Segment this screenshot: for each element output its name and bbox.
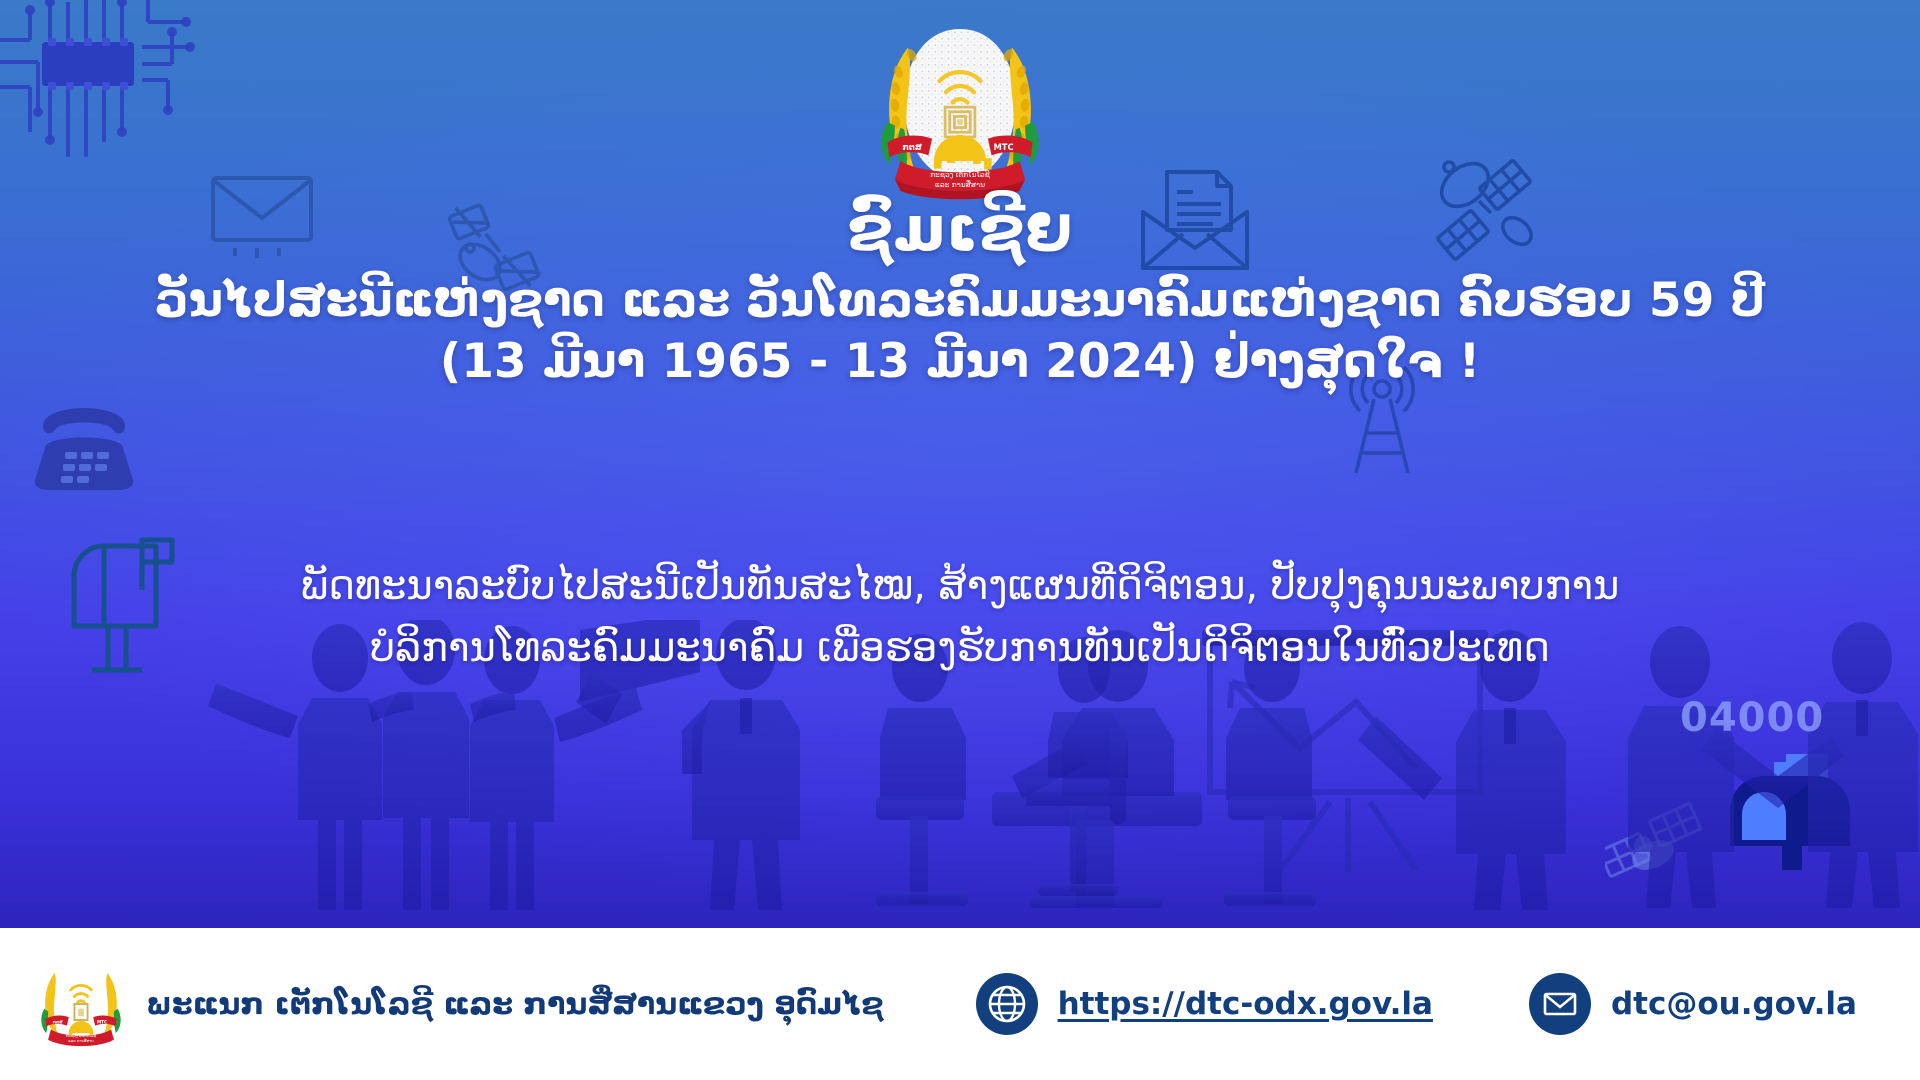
national-emblem: ກຕສ MTC ກະຊວງ ເຕັກໂນໂລຊີ ແລະ ການສື່ສານ (867, 16, 1053, 202)
website-url[interactable]: https://dtc-odx.gov.la (1058, 986, 1433, 1022)
email-address[interactable]: dtc@ou.gov.la (1611, 986, 1857, 1022)
headline-kicker: ຊົມເຊີຍ (0, 196, 1920, 262)
svg-text:ແລະ ການສື່ສານ: ແລະ ການສື່ສານ (68, 1038, 94, 1043)
headline-line-1: ວັນໄປສະນີແຫ່ງຊາດ ແລະ ວັນໂທລະຄົມມະນາຄົມແຫ… (155, 273, 1765, 328)
svg-text:ກຕສ: ກຕສ (902, 142, 921, 152)
footer-bar: ກຕສ MTC ກະຊວງ ເຕັກໂນໂລຊີ ແລະ ການສື່ສານ ພ… (0, 928, 1920, 1080)
headline-block: ຊົມເຊີຍ ວັນໄປສະນີແຫ່ງຊາດ ແລະ ວັນໂທລະຄົມມ… (0, 196, 1920, 392)
body-copy: ພັດທະນາລະບົບໄປສະນີເປັນທັນສະໄໝ, ສ້າງແຜນທີ… (0, 555, 1920, 679)
footer-website[interactable]: https://dtc-odx.gov.la (976, 973, 1433, 1035)
footer-department: ກຕສ MTC ກະຊວງ ເຕັກໂນໂລຊີ ແລະ ການສື່ສານ ພ… (34, 957, 884, 1051)
svg-text:ກຕສ: ກຕສ (53, 1019, 63, 1025)
poster-canvas: ກຕສ MTC ກະຊວງ ເຕັກໂນໂລຊີ ແລະ ການສື່ສານ ຊ… (0, 0, 1920, 1080)
svg-text:ກະຊວງ ເຕັກໂນໂລຊີ: ກະຊວງ ເຕັກໂນໂລຊີ (66, 1033, 97, 1038)
body-line-2: ບໍລິການໂທລະຄົມມະນາຄົມ ເພື່ອຮອງຮັບການທັນເ… (0, 617, 1920, 679)
svg-text:MTC: MTC (993, 142, 1013, 152)
body-line-1: ພັດທະນາລະບົບໄປສະນີເປັນທັນສະໄໝ, ສ້າງແຜນທີ… (0, 555, 1920, 617)
postal-code-label: 04000 (1680, 695, 1824, 741)
envelope-icon (1529, 973, 1591, 1035)
footer-department-name: ພະແນກ ເຕັກໂນໂລຊີ ແລະ ການສື່ສານແຂວງ ອຸດົມ… (146, 987, 884, 1022)
svg-text:ກະຊວງ ເຕັກໂນໂລຊີ: ກະຊວງ ເຕັກໂນໂລຊີ (930, 170, 991, 179)
svg-text:MTC: MTC (97, 1020, 107, 1025)
globe-icon (976, 973, 1038, 1035)
footer-email[interactable]: dtc@ou.gov.la (1529, 973, 1857, 1035)
headline-main: ວັນໄປສະນີແຫ່ງຊາດ ແລະ ວັນໂທລະຄົມມະນາຄົມແຫ… (0, 270, 1920, 392)
footer-emblem-icon: ກຕສ MTC ກະຊວງ ເຕັກໂນໂລຊີ ແລະ ການສື່ສານ (34, 957, 128, 1051)
headline-line-2: (13 ມີນາ 1965 - 13 ມີນາ 2024) ຢ່າງສຸດໃຈ … (0, 331, 1920, 392)
svg-text:ແລະ ການສື່ສານ: ແລະ ການສື່ສານ (935, 180, 985, 189)
